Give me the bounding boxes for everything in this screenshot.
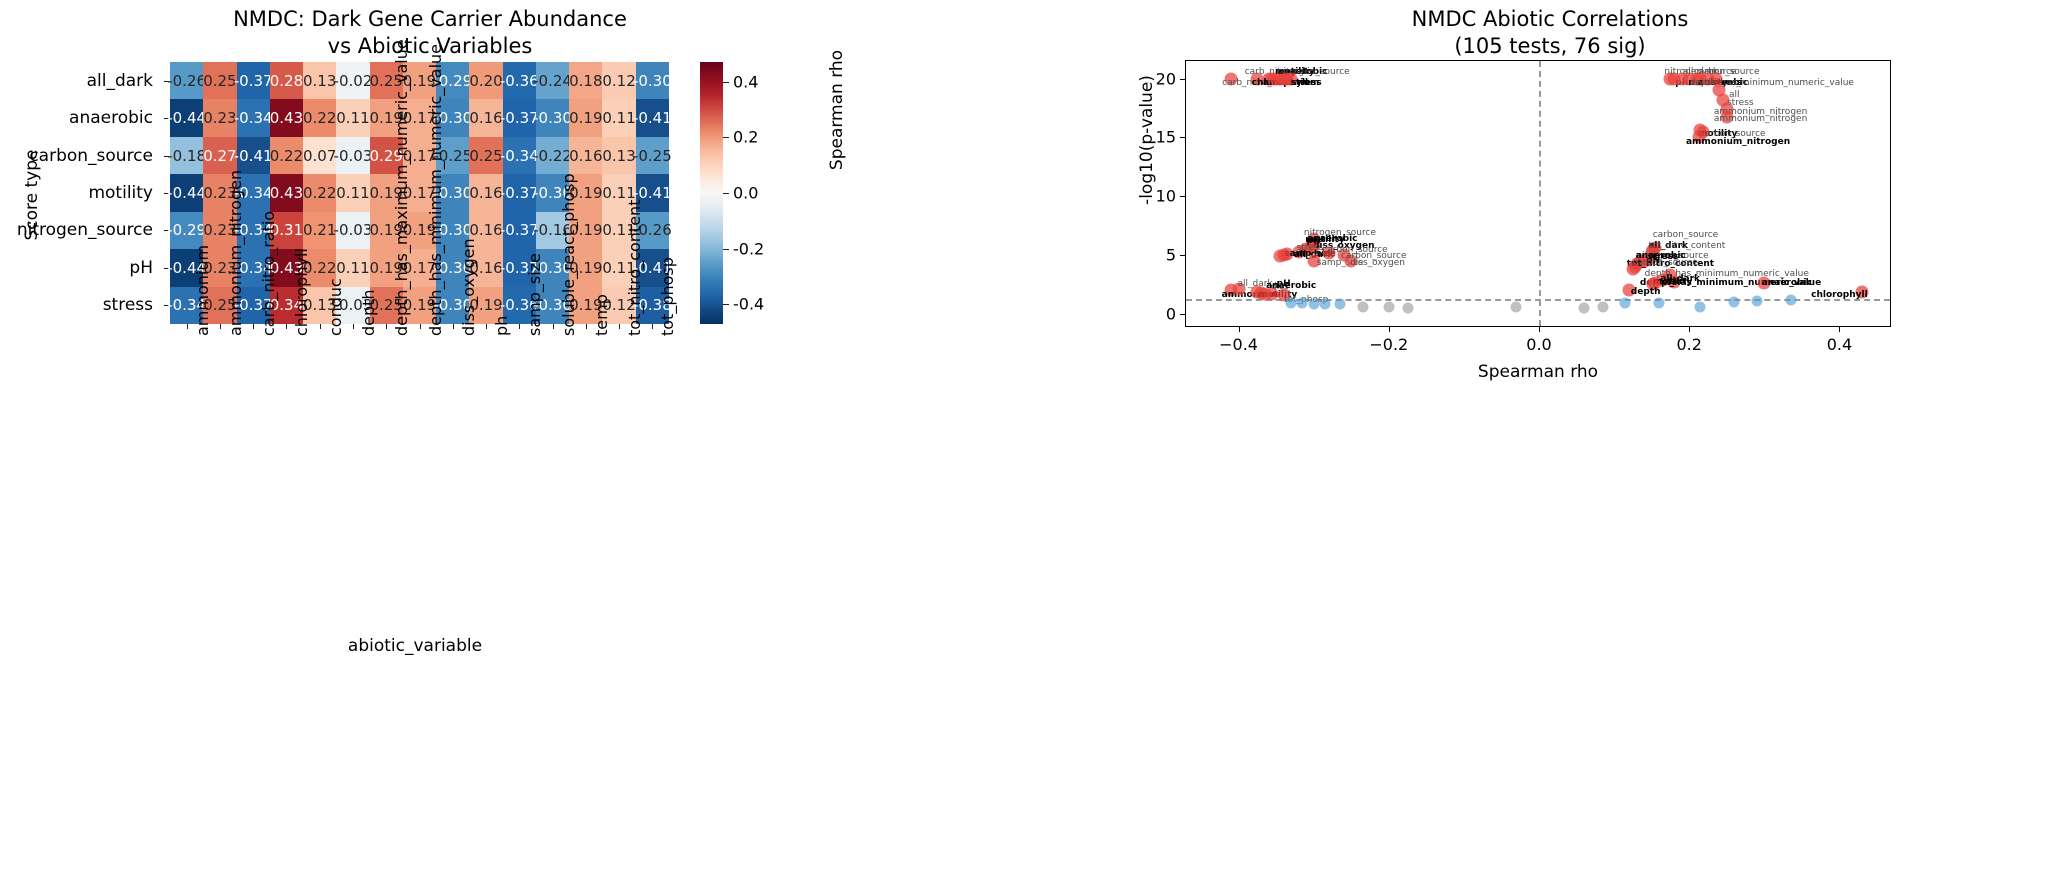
heatmap-row-label: pH <box>129 258 153 278</box>
heatmap-col-label: conduc <box>326 278 345 336</box>
heatmap-cell: -0.25 <box>636 137 669 174</box>
heatmap-cell: 0.13 <box>303 62 336 99</box>
heatmap-col-tick <box>453 324 454 329</box>
heatmap-cell: -0.30 <box>636 62 669 99</box>
scatter-y-tick-label: 15 <box>1156 128 1176 147</box>
scatter-x-tick-label: −0.4 <box>1219 335 1258 354</box>
heatmap-cell: 0.16 <box>469 99 502 136</box>
heatmap-cell: -0.29 <box>170 212 203 249</box>
figure-canvas: NMDC: Dark Gene Carrier Abundance vs Abi… <box>0 0 2067 879</box>
scatter-x-tick <box>1839 326 1840 332</box>
scatter-point <box>1654 298 1665 309</box>
scatter-point <box>1695 301 1706 312</box>
scatter-point <box>1597 302 1608 313</box>
scatter-y-tick <box>1180 137 1186 138</box>
heatmap-col-tick <box>652 324 653 329</box>
scatter-point <box>1729 297 1740 308</box>
heatmap-cell-value: -0.25 <box>633 147 672 165</box>
heatmap-y-axis-label: Score type <box>22 125 42 265</box>
colorbar-tick-label: -0.2 <box>733 239 764 258</box>
heatmap-column-labels: ammoniumammonium_nitrogencarb_nitro_rati… <box>170 330 669 550</box>
heatmap-cell-value: -0.30 <box>633 72 672 90</box>
heatmap-col-tick <box>253 324 254 329</box>
heatmap-cell-value: 0.07 <box>303 147 336 165</box>
heatmap-cell: -0.41 <box>237 137 270 174</box>
heatmap-cell: -0.30 <box>536 99 569 136</box>
scatter-point <box>1751 295 1762 306</box>
heatmap-title-line1: NMDC: Dark Gene Carrier Abundance <box>175 6 685 33</box>
scatter-y-axis-label: -log10(p-value) <box>1137 45 1157 235</box>
heatmap-col-tick <box>353 324 354 329</box>
heatmap-cell: 0.28 <box>270 62 303 99</box>
heatmap-col-label: temp <box>592 294 611 336</box>
heatmap-cell: 0.11 <box>602 99 635 136</box>
scatter-y-tick <box>1180 79 1186 80</box>
scatter-point-label: carbon_source <box>1322 245 1387 255</box>
scatter-point-label: carbon_source <box>1632 258 1697 268</box>
heatmap-col-tick <box>320 324 321 329</box>
heatmap-cell-value: -0.18 <box>167 147 206 165</box>
scatter-y-tick-label: 5 <box>1166 246 1176 265</box>
heatmap-cell-value: -0.29 <box>167 221 206 239</box>
heatmap-cell-value: -0.24 <box>533 72 572 90</box>
scatter-x-tick <box>1689 326 1690 332</box>
heatmap-col-label: tot_nitro_content <box>625 200 644 336</box>
heatmap-cell-value: 0.18 <box>569 72 602 90</box>
heatmap-row-label: stress <box>103 295 153 315</box>
heatmap-cell-value: -0.26 <box>167 72 206 90</box>
scatter-point <box>1334 299 1345 310</box>
heatmap-row-label: anaerobic <box>69 108 153 128</box>
heatmap-cell-value: 0.25 <box>203 72 236 90</box>
scatter-y-tick-label: 10 <box>1156 187 1176 206</box>
heatmap-col-tick <box>286 324 287 329</box>
heatmap-cell: -0.03 <box>336 212 369 249</box>
heatmap-cell-value: 0.11 <box>336 259 369 277</box>
heatmap-cell: -0.34 <box>237 99 270 136</box>
heatmap-cell: -0.02 <box>336 62 369 99</box>
heatmap-col-label: ammonium_nitrogen <box>226 170 245 336</box>
heatmap-x-axis-label: abiotic_variable <box>0 636 830 656</box>
scatter-point <box>1785 295 1796 306</box>
scatter-point-label: chlorophyll <box>1811 290 1868 300</box>
heatmap-cell: 0.16 <box>569 137 602 174</box>
scatter-point <box>1383 302 1394 313</box>
heatmap-cell: 0.25 <box>469 137 502 174</box>
heatmap-cell-value: -0.41 <box>234 147 273 165</box>
colorbar-label: Spearman rho <box>827 15 847 205</box>
heatmap-cell-value: 0.27 <box>203 147 236 165</box>
heatmap-cell-value: 0.16 <box>469 184 502 202</box>
heatmap-cell: -0.37 <box>237 62 270 99</box>
scatter-title-line2: (105 tests, 76 sig) <box>1090 33 2010 60</box>
heatmap-cell: 0.13 <box>602 137 635 174</box>
heatmap-cell-value: 0.19 <box>569 109 602 127</box>
scatter-point <box>1357 301 1368 312</box>
heatmap-cell: 0.12 <box>602 62 635 99</box>
heatmap-cell: -0.44 <box>170 99 203 136</box>
heatmap-cell-value: -0.41 <box>633 109 672 127</box>
colorbar-tick <box>723 137 729 138</box>
heatmap-cell: -0.34 <box>503 137 536 174</box>
scatter-point <box>1308 298 1319 309</box>
scatter-point-label: anaerobic <box>1266 281 1316 291</box>
heatmap-cell: -0.03 <box>336 137 369 174</box>
heatmap-col-label: diss_oxygen <box>459 238 478 336</box>
heatmap-cell: 0.11 <box>336 174 369 211</box>
heatmap-cell-value: 0.16 <box>469 109 502 127</box>
heatmap-cell-value: -0.22 <box>533 147 572 165</box>
colorbar-tick <box>723 82 729 83</box>
heatmap-cell: -0.36 <box>503 62 536 99</box>
scatter-point-label: tot_nitro_content <box>1649 241 1726 251</box>
scatter-point-label: depth <box>1631 287 1661 297</box>
colorbar-tick <box>723 193 729 194</box>
heatmap-panel: NMDC: Dark Gene Carrier Abundance vs Abi… <box>0 0 830 879</box>
heatmap-cell-value: 0.25 <box>469 147 502 165</box>
heatmap-cell: 0.19 <box>569 99 602 136</box>
heatmap-cell-value: 0.28 <box>270 72 303 90</box>
heatmap-cell: -0.44 <box>170 174 203 211</box>
heatmap-cell: -0.18 <box>170 137 203 174</box>
scatter-x-tick-label: 0.0 <box>1526 335 1551 354</box>
heatmap-cell: 0.16 <box>469 174 502 211</box>
heatmap-col-label: chlorophyll <box>292 248 311 336</box>
colorbar-tick-label: 0.2 <box>733 128 758 147</box>
scatter-x-tick <box>1389 326 1390 332</box>
heatmap-col-label: ammonium <box>193 245 212 336</box>
heatmap-cell: -0.24 <box>536 62 569 99</box>
heatmap-cell-value: 0.21 <box>303 221 336 239</box>
scatter-x-axis-label: Spearman rho <box>1185 362 1891 382</box>
heatmap-cell: 0.22 <box>270 137 303 174</box>
heatmap-cell: 0.20 <box>469 62 502 99</box>
colorbar-tick-label: -0.4 <box>733 295 764 314</box>
scatter-point <box>1511 302 1522 313</box>
heatmap-col-label: tot_phosp <box>658 257 677 336</box>
heatmap-cell-value: -0.03 <box>334 221 373 239</box>
heatmap-col-tick <box>553 324 554 329</box>
heatmap-col-label: depth_has_minimum_numeric_value <box>426 44 445 336</box>
scatter-panel: NMDC Abiotic Correlations (105 tests, 76… <box>1030 0 2067 879</box>
heatmap-cell-value: 0.22 <box>303 184 336 202</box>
scatter-point <box>1273 250 1286 263</box>
heatmap-col-label: depth_has_maximum_numeric_value <box>392 39 411 336</box>
heatmap-cell-value: 0.11 <box>336 184 369 202</box>
colorbar: 0.40.20.0-0.2-0.4 <box>700 62 723 324</box>
heatmap-cell: 0.11 <box>336 99 369 136</box>
heatmap-cell-value: 0.23 <box>203 109 236 127</box>
scatter-y-tick-label: 0 <box>1166 304 1176 323</box>
heatmap-cell-value: 0.12 <box>602 72 635 90</box>
scatter-point <box>1620 297 1631 308</box>
scatter-x-tick <box>1239 326 1240 332</box>
colorbar-tick-label: 0.0 <box>733 184 758 203</box>
scatter-point-label: ammonium_nitrogen <box>1714 114 1807 124</box>
colorbar-tick <box>723 249 729 250</box>
heatmap-cell: 0.22 <box>303 99 336 136</box>
scatter-title: NMDC Abiotic Correlations (105 tests, 76… <box>1090 6 2010 60</box>
heatmap-cell-value: 0.13 <box>303 72 336 90</box>
heatmap-cell: 0.43 <box>270 99 303 136</box>
scatter-plot-area: −0.4−0.20.00.20.405101520carb_nitro_rati… <box>1185 60 1891 327</box>
heatmap-col-tick <box>187 324 188 329</box>
heatmap-col-tick <box>386 324 387 329</box>
scatter-y-tick <box>1180 255 1186 256</box>
heatmap-cell-value: 0.13 <box>602 147 635 165</box>
heatmap-col-tick <box>586 324 587 329</box>
heatmap-row-label: carbon_source <box>29 146 153 166</box>
scatter-x-tick-label: 0.4 <box>1827 335 1852 354</box>
heatmap-col-label: depth <box>359 289 378 336</box>
heatmap-cell-value: -0.03 <box>334 147 373 165</box>
colorbar-tick <box>723 304 729 305</box>
heatmap-cell-value: 0.22 <box>303 109 336 127</box>
scatter-point <box>1319 298 1330 309</box>
heatmap-cell: -0.37 <box>503 212 536 249</box>
heatmap-col-label: ph <box>492 316 511 336</box>
heatmap-col-tick <box>420 324 421 329</box>
scatter-point-label: anaerobic <box>1762 278 1812 288</box>
heatmap-cell-value: 0.16 <box>469 221 502 239</box>
scatter-y-tick <box>1180 196 1186 197</box>
heatmap-cell: 0.23 <box>203 99 236 136</box>
colorbar-tick-label: 0.4 <box>733 72 758 91</box>
heatmap-cell-value: -0.30 <box>533 109 572 127</box>
heatmap-cell-value: -0.44 <box>167 109 206 127</box>
heatmap-col-label: carb_nitro_ratio <box>259 211 278 336</box>
heatmap-cell: -0.37 <box>503 99 536 136</box>
heatmap-cell: 0.22 <box>303 174 336 211</box>
heatmap-cell: -0.22 <box>536 137 569 174</box>
heatmap-cell-value: -0.02 <box>334 72 373 90</box>
heatmap-row-label: all_dark <box>87 71 153 91</box>
heatmap-cell-value: -0.37 <box>234 72 273 90</box>
scatter-x-tick-label: 0.2 <box>1676 335 1701 354</box>
heatmap-cell-value: -0.44 <box>167 184 206 202</box>
scatter-point-label: pH <box>1661 278 1675 288</box>
scatter-x-tick-label: −0.2 <box>1369 335 1408 354</box>
heatmap-cell-value: 0.11 <box>602 109 635 127</box>
heatmap-cell-value: 0.43 <box>270 184 303 202</box>
scatter-y-tick <box>1180 314 1186 315</box>
heatmap-cell: 0.21 <box>303 212 336 249</box>
heatmap-cell: 0.27 <box>203 137 236 174</box>
heatmap-cell-value: 0.22 <box>270 147 303 165</box>
heatmap-col-label: samp_size <box>525 253 544 336</box>
heatmap-cell: 0.25 <box>203 62 236 99</box>
scatter-x-tick <box>1539 326 1540 332</box>
heatmap-col-tick <box>519 324 520 329</box>
colorbar-gradient <box>700 62 723 324</box>
heatmap-cell: 0.43 <box>270 174 303 211</box>
scatter-point-label: stress <box>1291 78 1322 88</box>
heatmap-cell: -0.26 <box>170 62 203 99</box>
scatter-title-line1: NMDC Abiotic Correlations <box>1090 6 2010 33</box>
heatmap-cell-value: 0.20 <box>469 72 502 90</box>
heatmap-cell-value: 0.16 <box>569 147 602 165</box>
heatmap-col-tick <box>220 324 221 329</box>
heatmap-cell: 0.07 <box>303 137 336 174</box>
heatmap-col-tick <box>486 324 487 329</box>
heatmap-cell-value: 0.43 <box>270 109 303 127</box>
scatter-point-label: carbon_source <box>1653 230 1718 240</box>
heatmap-cell-value: 0.11 <box>336 109 369 127</box>
scatter-point <box>1579 303 1590 314</box>
heatmap-cell: 0.18 <box>569 62 602 99</box>
scatter-point <box>1402 303 1413 314</box>
heatmap-col-tick <box>619 324 620 329</box>
heatmap-col-label: soluble_react_phosp <box>559 173 578 336</box>
heatmap-cell-value: -0.34 <box>234 109 273 127</box>
heatmap-row-label: motility <box>88 183 153 203</box>
heatmap-cell: -0.41 <box>636 99 669 136</box>
heatmap-cell: -0.37 <box>503 174 536 211</box>
scatter-point <box>1286 297 1297 308</box>
scatter-y-tick-label: 20 <box>1156 69 1176 88</box>
scatter-point <box>1297 298 1308 309</box>
zero-reference-line <box>1539 61 1541 326</box>
scatter-point-label: ammonium_nitrogen <box>1686 137 1790 147</box>
